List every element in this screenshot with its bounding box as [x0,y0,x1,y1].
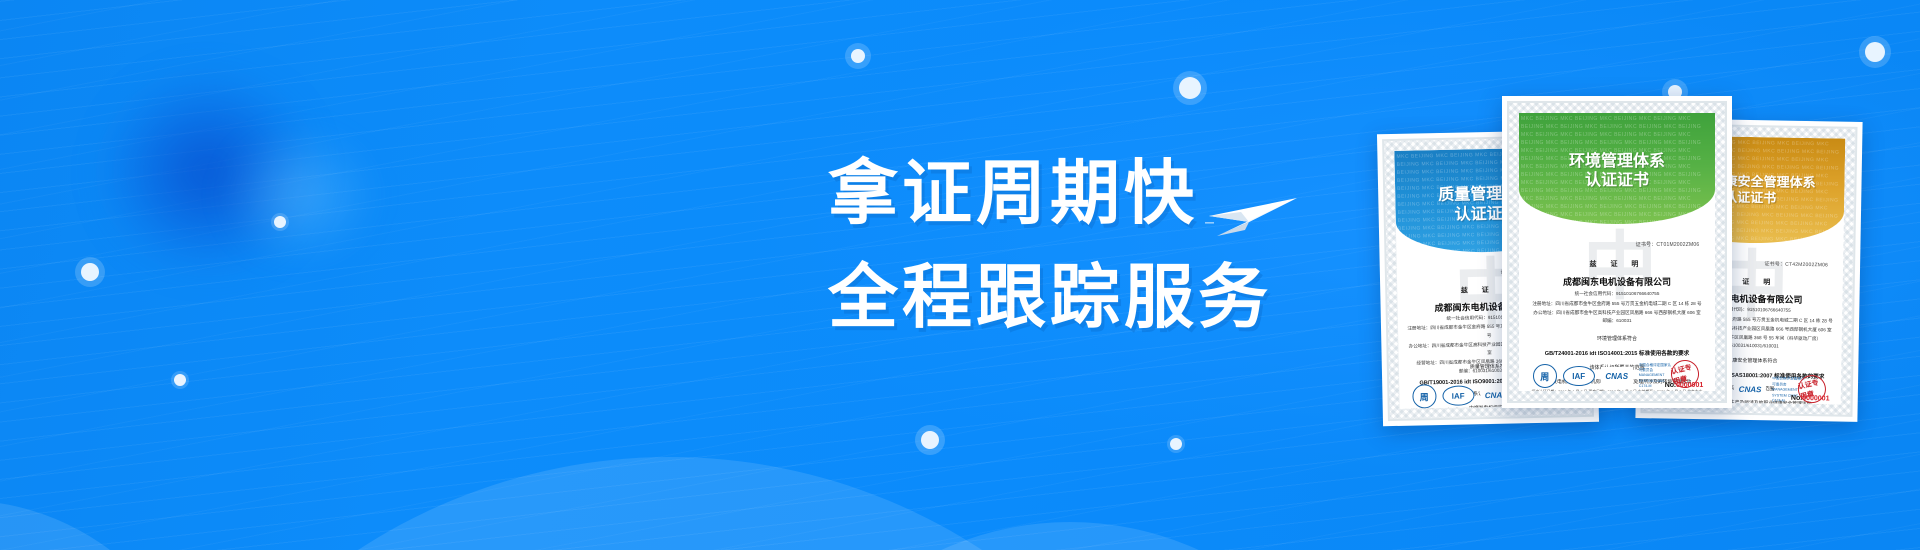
cnas-logo-icon: CNAS [1734,381,1766,400]
certificate-number: No.0000001 [1665,382,1704,389]
decorative-dot [1170,438,1182,450]
decorative-dot [921,431,939,449]
decorative-dot [81,263,99,281]
certificate-system-label: 环境管理体系符合 [1519,335,1715,342]
decorative-dot [1179,77,1201,99]
certificate-declaration: 兹 证 明 [1519,259,1715,269]
paper-plane-icon [1205,192,1301,248]
certificate-footer: 初次认证日期：2018 年 1 月 8 日 更变日期：2018 年 1 月 8 … [1531,389,1704,391]
certificate-company-name: 成都闽东电机设备有限公司 [1519,275,1715,288]
light-blue-glow-blob [190,100,410,290]
certificate-address-line: 办公地址：四川省成都市金牛区高科技产业园区凤凰路 666 号西部钢机大厦 606… [1529,309,1705,318]
headline-line-2: 全程跟踪服务 [828,256,1272,338]
certificates-group: 中MKC BEIJING MKC BEIJING MKC BEIJING MKC… [1380,96,1920,496]
certificate-border: 中MKC BEIJING MKC BEIJING MKC BEIJING MKC… [1507,101,1727,403]
decorative-dot [274,216,286,228]
certificate-standard: GB/T24001-2016 idt ISO14001:2015 标准使用各款的… [1519,349,1715,357]
certificate-accreditation-logos: 周IAFCNAS中国合格评定国家认可委员会 MANAGEMENT SYSTEM … [1533,363,1673,390]
hero-banner: 拿证周期快 全程跟踪服务 中MKC BEIJING MKC BEIJING MK… [0,0,1920,550]
iaf-logo-icon: IAF [1563,366,1595,386]
certificate-number-value: 0000001 [1802,395,1829,402]
certificate-serial-number: 证书号：CT01M2002ZM06 [1636,241,1700,248]
certificate-number-value: 0000001 [1676,382,1703,389]
certificate-serial-number: 证书号：CT42M2002ZM06 [1764,260,1828,268]
certificate-body: 中MKC BEIJING MKC BEIJING MKC BEIJING MKC… [1519,113,1715,391]
certificate-address-line: 邮编：610031 [1529,317,1705,326]
certificate-number: No.0000001 [1791,395,1830,403]
decorative-circle [0,500,210,550]
china-certification-logo-icon: 周 [1412,384,1436,408]
china-certification-logo-icon: 周 [1533,364,1557,388]
cnas-logo-icon: CNAS [1601,367,1633,385]
certificate-card[interactable]: 中MKC BEIJING MKC BEIJING MKC BEIJING MKC… [1502,96,1732,408]
certificate-title-line-2: 认证证书 [1519,171,1715,191]
decorative-dot [174,374,186,386]
certificate-title-line-1: 环境管理体系 [1519,152,1715,172]
certificate-number-prefix: No. [1665,382,1676,389]
decorative-dot [851,49,865,63]
certificate-address-block: 注册地址：四川省成都市金牛区金府路 555 号万贯五金机电城二期 C 区 14 … [1529,300,1705,326]
certificate-number-prefix: No. [1791,395,1802,402]
certificate-credit-code: 统一社会信用代码：91510106766640755 [1529,290,1705,299]
certificate-title: 环境管理体系认证证书 [1519,152,1715,191]
certificate-address-line: 注册地址：四川省成都市金牛区金府路 555 号万贯五金机电城二期 C 区 14 … [1529,300,1705,309]
iaf-logo-icon: IAF [1442,385,1474,406]
decorative-dot [1865,42,1885,62]
